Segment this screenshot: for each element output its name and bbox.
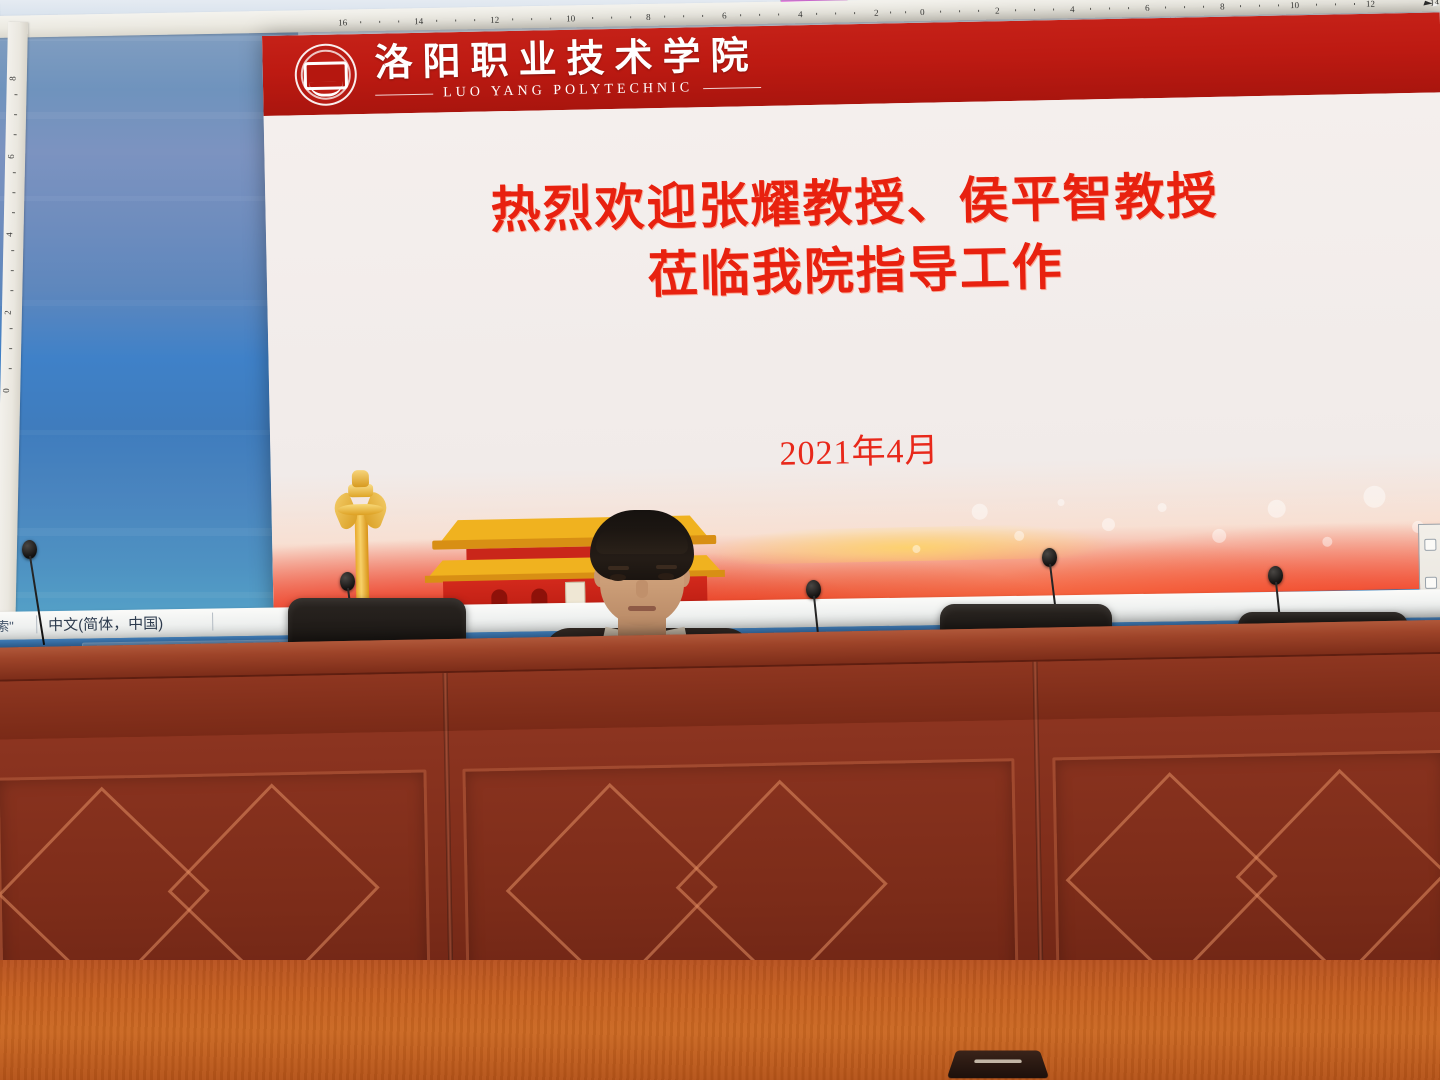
banner-rule-right (703, 87, 761, 89)
floor (0, 960, 1440, 1080)
school-crest-icon (294, 43, 357, 106)
school-name-cn: 洛阳职业技术学院 (374, 37, 761, 85)
hair-fringe (596, 528, 688, 554)
nose (636, 580, 648, 598)
slide-body: 热烈欢迎张耀教授、侯平智教授 莅临我院指导工作 2021年4月 (264, 92, 1440, 626)
ime-language-indicator[interactable]: 中文(简体，中国) (48, 612, 163, 635)
status-left-fragment: 索" (0, 616, 14, 635)
slide-title: 热烈欢迎张耀教授、侯平智教授 莅临我院指导工作 (265, 158, 1440, 317)
conference-room-photo: 段落 形状效果 绘图 16 14 12 10 8 6 4 2 0 2 4 6 8… (0, 0, 1440, 1080)
floor-device (947, 1051, 1049, 1079)
mouth (628, 606, 656, 611)
banner-rule-left (375, 94, 433, 96)
projected-slide: 洛阳职业技术学院 LUO YANG POLYTECHNIC 热烈欢迎张耀教授、侯… (262, 12, 1440, 626)
school-name-en: LUO YANG POLYTECHNIC (443, 81, 693, 102)
